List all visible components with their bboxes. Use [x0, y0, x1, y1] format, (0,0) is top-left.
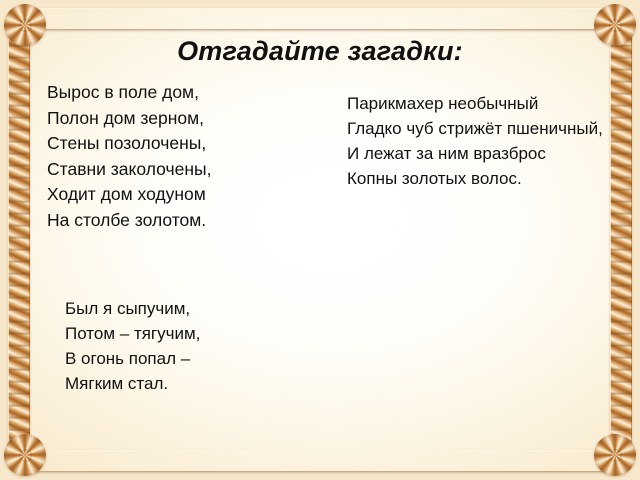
riddle-text-left: Вырос в поле дом, Полон дом зерном, Стен… [47, 80, 317, 233]
slide-content: Отгадайте загадки: Вырос в поле дом, Пол… [0, 0, 640, 480]
page-title: Отгадайте загадки: [0, 36, 640, 67]
riddle-text-bottom: Был я сыпучим, Потом – тягучим, В огонь … [65, 296, 315, 396]
riddle-text-right: Парикмахер необычный Гладко чуб стрижёт … [347, 91, 605, 191]
slide-canvas: Отгадайте загадки: Вырос в поле дом, Пол… [0, 0, 640, 480]
